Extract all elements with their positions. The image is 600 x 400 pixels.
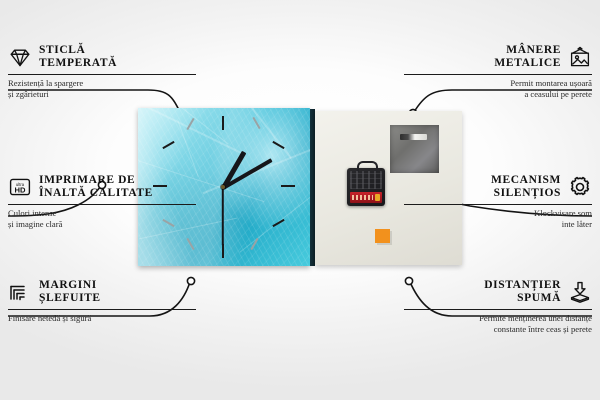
feature-subtitle: Permite menținerea unei distanțe constan… (404, 313, 592, 334)
feature-head: MARGINI ȘLEFUITE (8, 279, 196, 305)
infographic-stage: STICLĂ TEMPERATĂ Rezistență la spargere … (0, 0, 600, 400)
feature-subtitle: Finisare netedă și sigură (8, 313, 196, 324)
feature-rule (8, 204, 196, 205)
feature-callout-spacer: DISTANȚIER SPUMĂ Permite menținerea unei… (404, 279, 592, 334)
feature-head: STICLĂ TEMPERATĂ (8, 44, 196, 70)
feature-title: DISTANȚIER SPUMĂ (484, 279, 561, 305)
polished-edges-icon (8, 280, 32, 304)
feature-rule (404, 204, 592, 205)
feature-subtitle: Rezistență la spargere și zgârieturi (8, 78, 196, 99)
clock-mechanism (347, 168, 385, 206)
feature-title: STICLĂ TEMPERATĂ (39, 44, 117, 70)
battery (350, 192, 382, 203)
tick-3 (281, 185, 295, 187)
feature-title: IMPRIMARE DE ÎNALTĂ CALITATE (39, 174, 153, 200)
feature-subtitle: Permit montarea ușoară a ceasului pe per… (404, 78, 592, 99)
gear-icon (568, 175, 592, 199)
diamond-icon (8, 45, 32, 69)
battery-label (352, 195, 373, 200)
feature-rule (404, 309, 592, 310)
feature-title: MARGINI ȘLEFUITE (39, 279, 101, 305)
hands-pivot (221, 185, 225, 189)
feature-rule (8, 74, 196, 75)
tick-12 (222, 116, 224, 130)
feature-title: MÂNERE METALICE (494, 44, 561, 70)
feature-callout-glass: STICLĂ TEMPERATĂ Rezistență la spargere … (8, 44, 196, 99)
feature-subtitle: Culori intense și imagine clară (8, 208, 196, 229)
feature-head: ultra HD IMPRIMARE DE ÎNALTĂ CALITATE (8, 174, 196, 200)
feature-rule (404, 74, 592, 75)
hanging-picture-icon (568, 45, 592, 69)
feature-subtitle: Klockvisare som inte låter (404, 208, 592, 229)
feature-title: MECANISM SILENȚIOS (491, 174, 561, 200)
feature-callout-edges: MARGINI ȘLEFUITE Finisare netedă și sigu… (8, 279, 196, 324)
feature-rule (8, 309, 196, 310)
mechanism-label-print (350, 171, 382, 189)
foam-spacer-pad (375, 229, 390, 243)
foam-spacer-icon (568, 280, 592, 304)
hanger-keyhole-slot (400, 134, 427, 140)
tick-6 (222, 244, 224, 258)
ultra-hd-icon: ultra HD (8, 175, 32, 199)
feature-head: MECANISM SILENȚIOS (404, 174, 592, 200)
feature-head: MÂNERE METALICE (404, 44, 592, 70)
feature-head: DISTANȚIER SPUMĂ (404, 279, 592, 305)
metal-hanger-plate (390, 125, 439, 173)
feature-callout-hooks: MÂNERE METALICE Permit montarea ușoară a… (404, 44, 592, 99)
feature-callout-print: ultra HD IMPRIMARE DE ÎNALTĂ CALITATE Cu… (8, 174, 196, 229)
svg-text:HD: HD (15, 186, 26, 195)
feature-callout-mechanism: MECANISM SILENȚIOS Klockvisare som inte … (404, 174, 592, 229)
second-hand (222, 187, 224, 245)
